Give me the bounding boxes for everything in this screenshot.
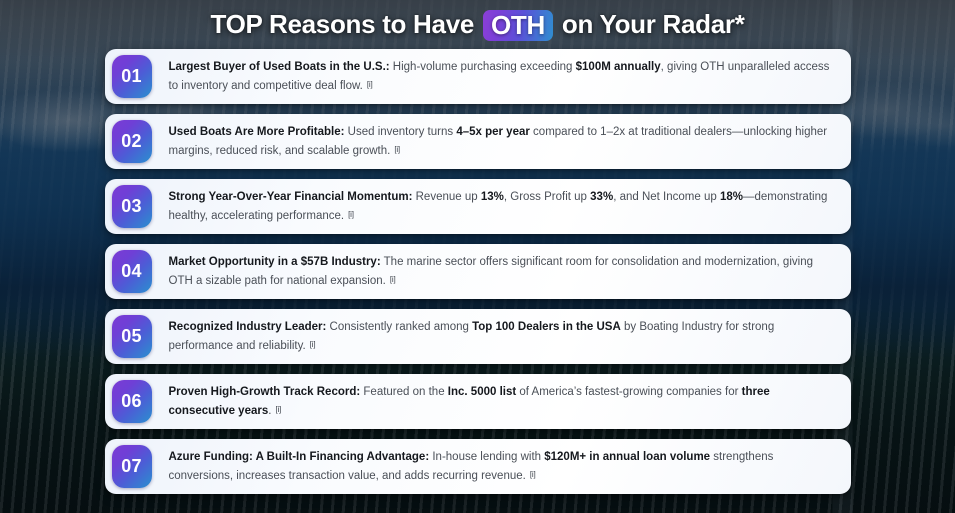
reason-number-badge: 02 <box>112 120 152 163</box>
reason-card[interactable]: 06Proven High-Growth Track Record: Featu… <box>105 374 851 429</box>
reason-bold-2: 33% <box>590 191 613 203</box>
footnote-marker[interactable]: [i] <box>271 405 281 414</box>
brand-badge-oth: OTH <box>483 10 553 41</box>
reason-text: Recognized Industry Leader: Consistently… <box>152 315 845 358</box>
reason-number-badge: 04 <box>112 250 152 293</box>
reason-bold-1: 4–5x per year <box>456 126 530 138</box>
reason-bold-3: 18% <box>720 191 743 203</box>
reason-bold-1: $100M annually <box>576 61 661 73</box>
reason-number-badge: 03 <box>112 185 152 228</box>
reason-text: Used Boats Are More Profitable: Used inv… <box>152 120 845 163</box>
reason-card[interactable]: 01Largest Buyer of Used Boats in the U.S… <box>105 49 851 104</box>
reason-card[interactable]: 02Used Boats Are More Profitable: Used i… <box>105 114 851 169</box>
reasons-list: 01Largest Buyer of Used Boats in the U.S… <box>105 49 851 494</box>
footnote-marker[interactable]: [i] <box>363 80 373 89</box>
reason-bold-1: $120M+ in annual loan volume <box>544 451 710 463</box>
slide-frame: TOP Reasons to Have OTH on Your Radar* 0… <box>0 0 955 513</box>
reason-body-1: Consistently ranked among <box>326 321 472 333</box>
footnote-marker[interactable]: [i] <box>526 470 536 479</box>
reason-lead: Market Opportunity in a $57B Industry: <box>169 256 381 268</box>
page-title: TOP Reasons to Have OTH on Your Radar* <box>0 0 955 40</box>
footnote-marker[interactable]: [i] <box>306 340 316 349</box>
reason-body-3: , and Net Income up <box>613 191 720 203</box>
reason-text: Largest Buyer of Used Boats in the U.S.:… <box>152 55 845 98</box>
reason-card[interactable]: 03Strong Year-Over-Year Financial Moment… <box>105 179 851 234</box>
reason-text: Proven High-Growth Track Record: Feature… <box>152 380 845 423</box>
reason-body-1: High-volume purchasing exceeding <box>390 61 576 73</box>
page-title-before: TOP Reasons to Have <box>210 9 474 39</box>
reason-number-badge: 01 <box>112 55 152 98</box>
footnote-marker[interactable]: [i] <box>390 145 400 154</box>
reason-body-2: , Gross Profit up <box>504 191 590 203</box>
reason-number-badge: 05 <box>112 315 152 358</box>
reason-body-1: Revenue up <box>412 191 480 203</box>
reason-body-1: Featured on the <box>360 386 448 398</box>
reason-bold-1: Top 100 Dealers in the USA <box>472 321 621 333</box>
reason-lead: Largest Buyer of Used Boats in the U.S.: <box>169 61 390 73</box>
reason-body-2: of America’s fastest-growing companies f… <box>516 386 741 398</box>
reason-number-badge: 07 <box>112 445 152 488</box>
reason-text: Market Opportunity in a $57B Industry: T… <box>152 250 845 293</box>
reason-text: Strong Year-Over-Year Financial Momentum… <box>152 185 845 228</box>
reason-body-1: In-house lending with <box>429 451 544 463</box>
reason-lead: Strong Year-Over-Year Financial Momentum… <box>169 191 413 203</box>
footnote-marker[interactable]: [i] <box>344 210 354 219</box>
reason-lead: Recognized Industry Leader: <box>169 321 327 333</box>
footnote-marker[interactable]: [i] <box>386 275 396 284</box>
reason-text: Azure Funding: A Built-In Financing Adva… <box>152 445 845 488</box>
reason-body-1: Used inventory turns <box>344 126 456 138</box>
reason-number-badge: 06 <box>112 380 152 423</box>
reason-card[interactable]: 04Market Opportunity in a $57B Industry:… <box>105 244 851 299</box>
reason-lead: Proven High-Growth Track Record: <box>169 386 361 398</box>
reason-lead: Azure Funding: A Built-In Financing Adva… <box>169 451 430 463</box>
reason-bold-1: 13% <box>481 191 504 203</box>
reason-card[interactable]: 05Recognized Industry Leader: Consistent… <box>105 309 851 364</box>
reason-card[interactable]: 07Azure Funding: A Built-In Financing Ad… <box>105 439 851 494</box>
reason-lead: Used Boats Are More Profitable: <box>169 126 345 138</box>
page-title-after: on Your Radar* <box>562 9 745 39</box>
reason-bold-1: Inc. 5000 list <box>448 386 516 398</box>
